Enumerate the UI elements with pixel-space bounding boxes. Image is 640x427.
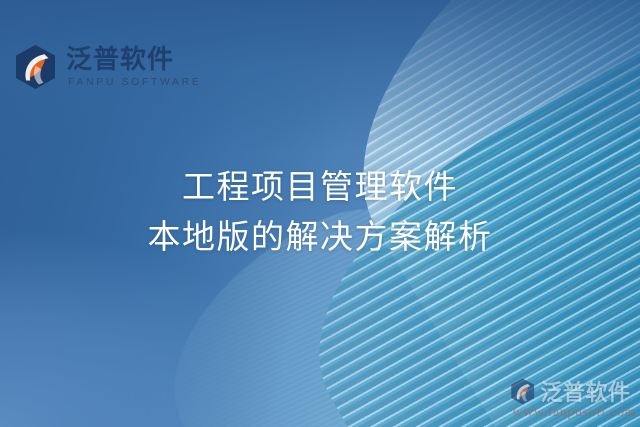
brand-logo-text: 泛普软件 FANPU SOFTWARE bbox=[66, 46, 201, 88]
headline-line-1: 工程项目管理软件 bbox=[0, 162, 640, 212]
brand-name-cn: 泛普软件 bbox=[66, 46, 201, 74]
watermark-url: www.fanpusoft.com bbox=[510, 405, 636, 421]
page-title: 工程项目管理软件 本地版的解决方案解析 bbox=[0, 162, 640, 262]
brand-logo[interactable]: 泛普软件 FANPU SOFTWARE bbox=[14, 44, 201, 90]
promo-banner: 泛普软件 FANPU SOFTWARE 工程项目管理软件 本地版的解决方案解析 … bbox=[0, 0, 640, 427]
fanpu-hexagon-swoosh-logo-icon bbox=[14, 44, 58, 90]
brand-name-en: FANPU SOFTWARE bbox=[66, 76, 201, 88]
watermark-brand-row: 泛普软件 bbox=[510, 375, 630, 407]
headline-line-2: 本地版的解决方案解析 bbox=[0, 212, 640, 262]
watermark-brand-name: 泛普软件 bbox=[540, 375, 630, 407]
watermark: 泛普软件 www.fanpusoft.com bbox=[510, 375, 636, 421]
fanpu-hexagon-swoosh-logo-icon bbox=[510, 378, 536, 405]
